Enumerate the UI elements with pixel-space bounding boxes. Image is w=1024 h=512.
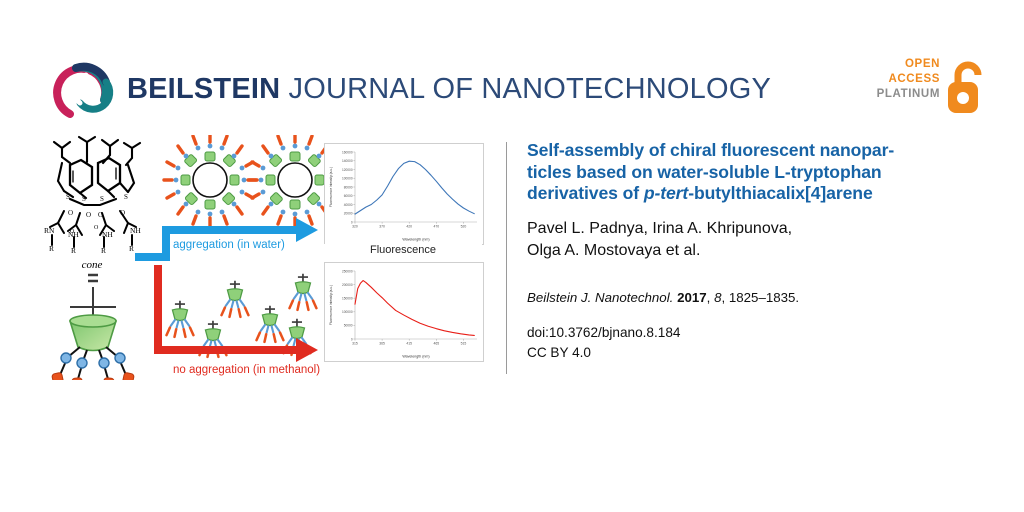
svg-text:40000: 40000 bbox=[344, 203, 353, 207]
no-aggregation-arrow bbox=[135, 265, 318, 362]
svg-text:200000: 200000 bbox=[342, 283, 353, 287]
beilstein-spiral-logo-icon bbox=[52, 56, 120, 124]
svg-text:NH: NH bbox=[102, 230, 113, 239]
journal-wordmark: BEILSTEIN JOURNAL OF NANOTECHNOLOGY bbox=[127, 72, 771, 106]
open-access-line-2: ACCESS bbox=[850, 72, 940, 87]
svg-text:315: 315 bbox=[352, 342, 358, 346]
citation-comma-2: , bbox=[721, 290, 725, 305]
fluorescence-chart-water: 0200004000060000800001000001200001400001… bbox=[324, 143, 484, 245]
svg-text:O: O bbox=[68, 209, 73, 217]
title-line-3-post: -butylthiacalix[4]arene bbox=[688, 183, 872, 203]
equivalence-symbol bbox=[88, 275, 98, 281]
article-info: Self-assembly of chiral fluorescent nano… bbox=[527, 140, 997, 363]
svg-text:420: 420 bbox=[406, 225, 412, 229]
column-divider bbox=[506, 142, 507, 374]
svg-text:370: 370 bbox=[379, 225, 385, 229]
wordmark-journal: JOURNAL OF NANOTECHNOLOGY bbox=[280, 73, 771, 105]
svg-text:470: 470 bbox=[433, 225, 439, 229]
svg-text:140000: 140000 bbox=[342, 159, 353, 163]
open-padlock-icon bbox=[946, 59, 988, 115]
svg-text:160000: 160000 bbox=[342, 150, 353, 154]
citation-year: 2017 bbox=[677, 290, 707, 305]
svg-text:S: S bbox=[66, 193, 70, 201]
svg-text:365: 365 bbox=[379, 342, 385, 346]
svg-text:80000: 80000 bbox=[344, 185, 353, 189]
svg-text:RN: RN bbox=[44, 226, 55, 235]
svg-text:O: O bbox=[94, 225, 99, 231]
authors: Pavel L. Padnya, Irina A. Khripunova, Ol… bbox=[527, 218, 997, 263]
doi-text: doi:10.3762/bjnano.8.184 bbox=[527, 323, 997, 343]
svg-text:520: 520 bbox=[461, 225, 467, 229]
micelle-aggregate-1 bbox=[164, 135, 256, 226]
svg-text:O: O bbox=[86, 211, 91, 219]
license-text: CC BY 4.0 bbox=[527, 343, 997, 363]
cone-tail-groups bbox=[52, 372, 135, 380]
svg-text:60000: 60000 bbox=[344, 194, 353, 198]
open-access-line-3: PLATINUM bbox=[850, 87, 940, 102]
svg-text:150000: 150000 bbox=[342, 297, 353, 301]
authors-line-2: Olga A. Mostovaya et al. bbox=[527, 242, 700, 259]
svg-text:415: 415 bbox=[406, 342, 412, 346]
svg-text:S: S bbox=[82, 195, 86, 203]
title-line-3-pre: derivatives of bbox=[527, 183, 644, 203]
citation-journal: Beilstein J. Nanotechnol. bbox=[527, 290, 673, 305]
svg-text:465: 465 bbox=[433, 342, 439, 346]
dispersed-monomers bbox=[167, 274, 317, 357]
svg-text:S: S bbox=[124, 193, 128, 201]
title-line-2: ticles based on water-soluble L-tryptoph… bbox=[527, 162, 882, 182]
open-access-text: OPEN ACCESS PLATINUM bbox=[850, 57, 940, 102]
cone-pendant-arms bbox=[60, 347, 126, 379]
svg-text:NH: NH bbox=[130, 226, 141, 235]
svg-text:Wavelength (nm): Wavelength (nm) bbox=[402, 355, 429, 359]
amide-arms bbox=[50, 211, 136, 247]
svg-text:O: O bbox=[70, 229, 75, 235]
aggregation-arrow-label: aggregation (in water) bbox=[173, 239, 285, 251]
charts-caption: Fluorescence bbox=[324, 244, 482, 256]
svg-text:20000: 20000 bbox=[344, 212, 353, 216]
page-title: Self-assembly of chiral fluorescent nano… bbox=[527, 140, 997, 205]
fluorescence-chart-methanol: 0500001000001500002000002500003153654154… bbox=[324, 262, 484, 362]
title-line-3-italic: p-tert bbox=[644, 183, 688, 203]
cone-head-groups bbox=[61, 353, 125, 368]
structure-conformer-label: cone bbox=[82, 259, 103, 271]
structure-substituent-labels: RNNH NHNH RR RR OO bbox=[44, 225, 141, 255]
title-line-1: Self-assembly of chiral fluorescent nano… bbox=[527, 140, 894, 160]
citation-comma-1: , bbox=[707, 290, 711, 305]
svg-text:Fluorescence intensity (a.u.): Fluorescence intensity (a.u.) bbox=[329, 167, 333, 207]
open-access-badge: OPEN ACCESS PLATINUM bbox=[866, 57, 988, 119]
journal-header: BEILSTEIN JOURNAL OF NANOTECHNOLOGY OPEN… bbox=[0, 0, 1024, 135]
citation-pages: 1825–1835. bbox=[729, 290, 799, 305]
svg-text:Wavelength (nm): Wavelength (nm) bbox=[402, 238, 429, 242]
svg-text:100000: 100000 bbox=[342, 177, 353, 181]
svg-text:S: S bbox=[100, 195, 104, 203]
svg-text:515: 515 bbox=[461, 342, 467, 346]
open-access-line-1: OPEN bbox=[850, 57, 940, 72]
svg-text:250000: 250000 bbox=[342, 269, 353, 273]
citation: Beilstein J. Nanotechnol. 2017, 8, 1825–… bbox=[527, 289, 997, 307]
wordmark-beilstein: BEILSTEIN bbox=[127, 73, 280, 105]
svg-text:320: 320 bbox=[352, 225, 358, 229]
svg-text:R: R bbox=[71, 246, 76, 255]
svg-text:120000: 120000 bbox=[342, 168, 353, 172]
svg-text:R: R bbox=[129, 244, 134, 253]
svg-text:Fluorescence intensity (a.u.): Fluorescence intensity (a.u.) bbox=[329, 285, 333, 325]
authors-line-1: Pavel L. Padnya, Irina A. Khripunova, bbox=[527, 220, 792, 237]
svg-text:50000: 50000 bbox=[344, 324, 353, 328]
poster-page: BEILSTEIN JOURNAL OF NANOTECHNOLOGY OPEN… bbox=[0, 0, 1024, 512]
svg-text:100000: 100000 bbox=[342, 310, 353, 314]
green-cone-cartoon bbox=[70, 315, 116, 351]
no-aggregation-arrow-label: no aggregation (in methanol) bbox=[173, 364, 320, 376]
svg-text:R: R bbox=[101, 246, 106, 255]
svg-text:R: R bbox=[49, 244, 54, 253]
